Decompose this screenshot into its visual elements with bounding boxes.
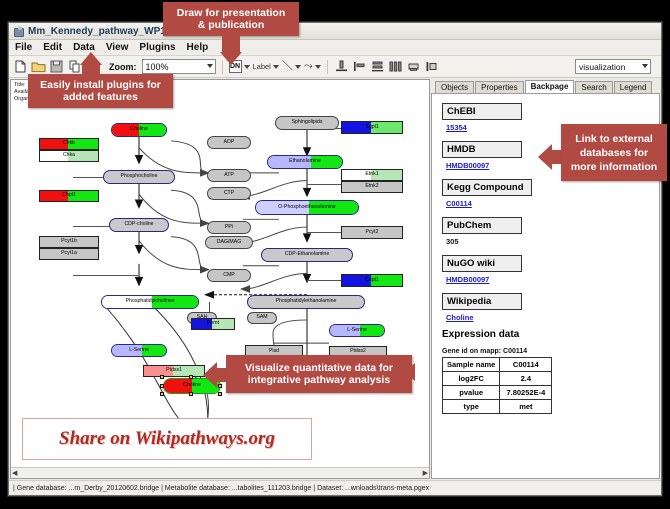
- node-label: Pcyt1a: [61, 251, 77, 256]
- canvas-horizontal-scrollbar[interactable]: ◀ ▶: [11, 467, 429, 478]
- scroll-right-icon[interactable]: ▶: [423, 469, 428, 477]
- node-label: L-Serine: [347, 328, 367, 333]
- menu-item-edit[interactable]: Edit: [42, 42, 63, 53]
- line-icon: ＼: [282, 61, 293, 72]
- side-panel-tabs: Objects Properties Backpage Search Legen…: [431, 79, 660, 94]
- node-cdp-ethanolamine[interactable]: CDP-Ethanolamine: [261, 248, 353, 262]
- chevron-down-icon: [295, 65, 301, 69]
- node-label: ATP: [224, 173, 234, 178]
- callout-expression-arrow-icon: [404, 363, 415, 381]
- tab-backpage[interactable]: Backpage: [525, 80, 575, 93]
- node-phosphatidylethanolamine[interactable]: Phosphatidylethanolamine: [247, 295, 365, 309]
- selection-handle[interactable]: [189, 375, 193, 379]
- node-label: Phosphatidylethanolamine: [276, 299, 337, 304]
- node-label: Phosphatidylcholines: [126, 299, 175, 304]
- callout-link: Link to external databases for more info…: [561, 124, 667, 181]
- node-pcyt2[interactable]: Pcyt2: [341, 226, 403, 239]
- node-sphingolipids[interactable]: Sphingolipids: [275, 116, 339, 130]
- tab-properties[interactable]: Properties: [475, 81, 523, 93]
- distribute-icon[interactable]: [388, 59, 403, 74]
- node-label: ADP: [224, 140, 235, 145]
- db-link-kegg-compound[interactable]: C00114: [446, 199, 659, 208]
- node-label: PPi: [225, 225, 233, 230]
- selection-handle[interactable]: [160, 375, 164, 379]
- node-o-phosphoethanolamine[interactable]: O-Phosphoethanolamine: [255, 200, 359, 215]
- pathway-canvas[interactable]: Title: Availa Organi: [11, 80, 429, 467]
- zoom-combobox[interactable]: 100%: [142, 59, 216, 74]
- callout-plugins-line1: Easily install plugins for: [40, 79, 161, 91]
- chevron-down-icon: [642, 64, 648, 68]
- label-tool-text: Label: [253, 62, 271, 71]
- align-bottom-icon[interactable]: [334, 59, 349, 74]
- node-label: SAM: [256, 315, 267, 320]
- node-choline-top[interactable]: Choline: [111, 123, 167, 137]
- node-label: Pcyt2: [366, 230, 379, 235]
- node-label: Sgpl1: [365, 125, 378, 130]
- node-l-serine-right[interactable]: L-Serine: [329, 324, 385, 337]
- callout-share: Share on Wikipathways.org: [22, 418, 312, 460]
- table-row: type met: [443, 400, 552, 414]
- node-phosphatidylcholines[interactable]: Phosphatidylcholines: [101, 295, 199, 309]
- node-label: Etnk1: [365, 172, 378, 177]
- table-cell-key: pvalue: [443, 386, 500, 400]
- db-header-wikipedia: Wikipedia: [442, 293, 522, 310]
- node-label: Phosphocholine: [121, 174, 158, 179]
- toolbar-separator: [327, 60, 328, 74]
- db-header-pubchem: PubChem: [442, 217, 522, 234]
- node-label: CMP: [223, 273, 235, 278]
- menu-item-file[interactable]: File: [14, 42, 33, 53]
- connector-line: [73, 275, 139, 276]
- db-link-nugo-wiki[interactable]: HMDB00097: [446, 275, 659, 284]
- scroll-left-icon[interactable]: ◀: [12, 469, 17, 477]
- callout-link-line3: more information: [571, 160, 657, 174]
- interaction-icon: ⤳: [304, 61, 313, 72]
- status-bar-text: | Gene database: ...m_Derby_20120602.bri…: [13, 485, 429, 492]
- callout-draw-line2: & publication: [198, 19, 265, 31]
- db-header-chebi: ChEBI: [442, 103, 522, 120]
- selection-handle[interactable]: [218, 384, 222, 388]
- node-chkb[interactable]: Chkb: [39, 138, 99, 150]
- status-bar: | Gene database: ...m_Derby_20120602.bri…: [9, 480, 661, 495]
- node-chpt1[interactable]: Chpt1: [39, 190, 99, 202]
- zoom-value: 100%: [146, 62, 169, 72]
- app-icon: [13, 26, 24, 37]
- node-cept1[interactable]: Cept1: [341, 274, 403, 287]
- callout-draw-line1: Draw for presentation: [177, 7, 286, 19]
- node-label: Pemt: [207, 321, 219, 326]
- node-label: L-Serine: [129, 348, 149, 353]
- node-sgpl1[interactable]: Sgpl1: [341, 121, 403, 134]
- table-cell-key: type: [443, 400, 500, 414]
- selection-handle[interactable]: [218, 392, 222, 396]
- selection-handle[interactable]: [189, 392, 193, 396]
- callout-draw: Draw for presentation & publication: [163, 2, 299, 36]
- chevron-down-icon: [207, 64, 213, 68]
- node-label: SAH: [197, 315, 208, 320]
- open-file-icon[interactable]: [31, 59, 46, 74]
- callout-visualize: Visualize quantitative data for integrat…: [226, 355, 412, 393]
- menu-item-help[interactable]: Help: [186, 42, 210, 53]
- tab-legend[interactable]: Legend: [614, 81, 653, 93]
- tab-search[interactable]: Search: [575, 81, 612, 93]
- line-tool[interactable]: ＼: [282, 61, 301, 72]
- expression-table: Sample name C00114 log2FC 2.4 pvalue 7.8…: [442, 357, 552, 414]
- node-ctp[interactable]: CTP: [207, 187, 251, 200]
- callout-visualize-line2: integrative pathway analysis: [248, 374, 390, 386]
- node-label: Sphingolipids: [292, 120, 323, 125]
- title-bar: Mm_Kennedy_pathway_WP1771_45176.gpml: [9, 23, 661, 40]
- chevron-down-icon: [315, 65, 321, 69]
- node-ethanolamine-top[interactable]: Ethanolamine: [267, 155, 343, 169]
- node-atp[interactable]: ATP: [207, 169, 251, 182]
- node-label: CTP: [224, 191, 234, 196]
- node-ptdss1[interactable]: Ptdss1: [143, 365, 205, 377]
- interaction-tool[interactable]: ⤳: [304, 61, 321, 72]
- save-file-icon[interactable]: [49, 59, 64, 74]
- node-label: DAG/MAG: [217, 240, 242, 245]
- node-chka[interactable]: Chka: [39, 150, 99, 162]
- db-link-wikipedia[interactable]: Choline: [446, 313, 659, 322]
- node-label: CDP-Ethanolamine: [285, 252, 329, 257]
- node-label: Ethanolamine: [289, 159, 321, 164]
- node-cmp[interactable]: CMP: [207, 269, 251, 282]
- order-icon[interactable]: [424, 59, 439, 74]
- table-cell-value: met: [500, 400, 552, 414]
- selection-handle[interactable]: [160, 392, 164, 396]
- node-ppi[interactable]: PPi: [207, 221, 251, 234]
- zoom-label: Zoom:: [109, 62, 137, 72]
- gene-id-line: Gene id on mapp: C00114: [442, 348, 659, 355]
- chevron-down-icon: [244, 65, 250, 69]
- new-file-icon[interactable]: [13, 59, 28, 74]
- callout-share-text: Share on Wikipathways.org: [59, 428, 275, 450]
- callout-link-line2: databases for: [580, 146, 648, 160]
- db-header-nugo-wiki: NuGO wiki: [442, 255, 522, 272]
- visualization-select[interactable]: visualization: [575, 59, 651, 74]
- table-cell-key: Sample name: [443, 358, 500, 372]
- node-label: CDP-choline: [124, 222, 153, 227]
- node-label: Pcyt1b: [61, 239, 77, 244]
- callout-plugins-line2: added features: [63, 91, 138, 103]
- table-cell-value: 7.80252E-4: [500, 386, 552, 400]
- node-label: Ptdss2: [350, 349, 366, 354]
- label-tool[interactable]: Label: [253, 62, 279, 71]
- tab-objects[interactable]: Objects: [435, 81, 474, 93]
- node-l-serine-left[interactable]: L-Serine: [111, 344, 167, 357]
- node-label: Pisd: [269, 349, 279, 354]
- node-label: O-Phosphoethanolamine: [278, 205, 335, 210]
- table-cell-key: log2FC: [443, 372, 500, 386]
- table-row: log2FC 2.4: [443, 372, 552, 386]
- node-pcyt1a[interactable]: Pcyt1a: [39, 248, 99, 260]
- db-value-pubchem: 305: [446, 237, 659, 246]
- node-label: Choline: [130, 127, 148, 132]
- db-header-kegg-compound: Kegg Compound: [442, 179, 532, 196]
- node-label: Chpt1: [62, 193, 76, 198]
- visualization-value: visualization: [579, 62, 625, 72]
- menu-item-plugins[interactable]: Plugins: [138, 42, 176, 53]
- menu-bar: File Edit Data View Plugins Help: [9, 40, 661, 56]
- node-dag-mag[interactable]: DAG/MAG: [205, 236, 253, 249]
- table-row: Sample name C00114: [443, 358, 552, 372]
- callout-draw-arrow-icon: [220, 52, 242, 65]
- node-label: Choline: [183, 383, 201, 388]
- table-cell-value: 2.4: [500, 372, 552, 386]
- node-label: Etnk2: [365, 184, 378, 189]
- node-pcyt1b[interactable]: Pcyt1b: [39, 236, 99, 248]
- node-etnk1[interactable]: Etnk1: [341, 169, 403, 181]
- node-label: Cept1: [365, 278, 379, 283]
- table-row: pvalue 7.80252E-4: [443, 386, 552, 400]
- node-phosphocholine[interactable]: Phosphocholine: [103, 170, 175, 184]
- table-cell-value: C00114: [500, 358, 552, 372]
- node-sam[interactable]: SAM: [247, 312, 277, 324]
- selection-handle[interactable]: [160, 384, 164, 388]
- callout-plugins: Easily install plugins for added feature…: [28, 74, 173, 108]
- node-label: Ptdss1: [166, 368, 182, 373]
- stack-vertical-icon[interactable]: [370, 59, 385, 74]
- db-header-hmdb: HMDB: [442, 141, 522, 158]
- group-icon[interactable]: [406, 59, 421, 74]
- expression-data-title: Expression data: [442, 329, 659, 340]
- menu-item-view[interactable]: View: [105, 42, 130, 53]
- node-label: Chkb: [63, 141, 75, 146]
- node-cdp-choline[interactable]: CDP-choline: [109, 218, 169, 232]
- align-left-icon[interactable]: [352, 59, 367, 74]
- callout-link-line1: Link to external: [575, 132, 653, 146]
- node-etnk2[interactable]: Etnk2: [341, 181, 403, 193]
- chevron-down-icon: [273, 65, 279, 69]
- callout-visualize-line1: Visualize quantitative data for: [245, 362, 393, 374]
- node-adp[interactable]: ADP: [207, 136, 251, 149]
- node-label: Chka: [63, 153, 75, 158]
